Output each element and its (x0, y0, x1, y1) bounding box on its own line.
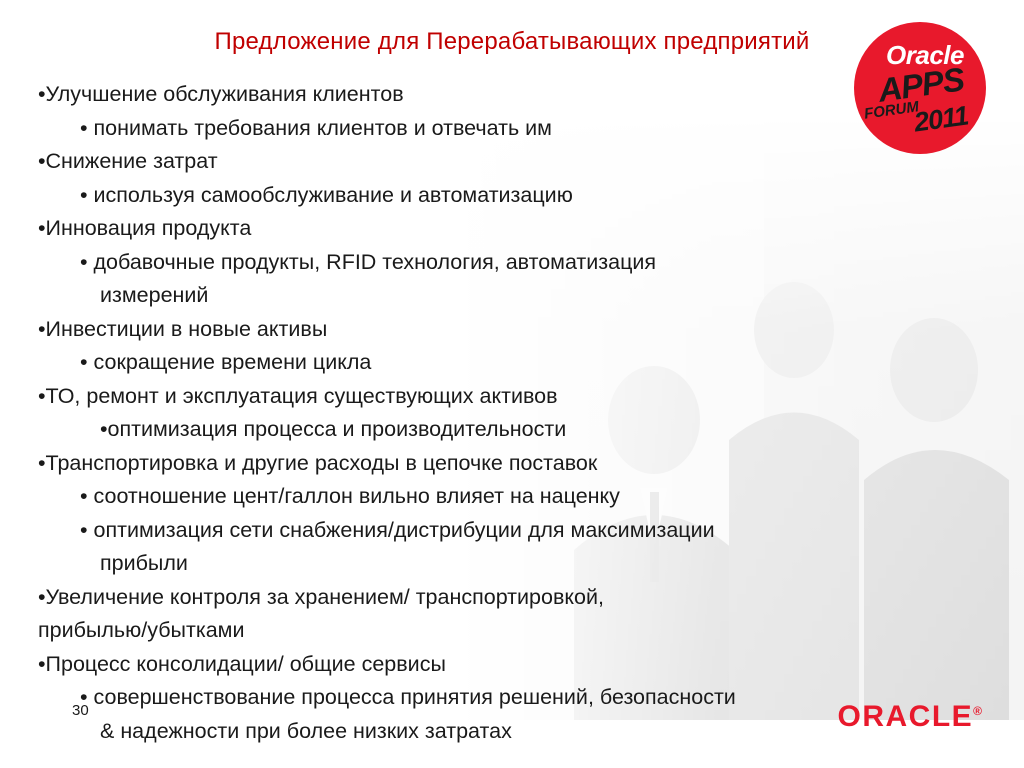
bullet-item: • добавочные продукты, RFID технология, … (38, 246, 998, 280)
bullet-item: •Инновация продукта (38, 212, 998, 246)
bullet-item: •Улучшение обслуживания клиентов (38, 78, 998, 112)
bullet-item: • понимать требования клиентов и отвечат… (38, 112, 998, 146)
bullet-item: • оптимизация сети снабжения/дистрибуции… (38, 514, 998, 548)
bullet-item: • соотношение цент/галлон вильно влияет … (38, 480, 998, 514)
oracle-wordmark: ORACLE (837, 700, 973, 733)
bullet-item-continuation: измерений (38, 279, 998, 313)
bullet-item: • используя самообслуживание и автоматиз… (38, 179, 998, 213)
bullet-item: •Инвестиции в новые активы (38, 313, 998, 347)
bullet-item-continuation: прибыли (38, 547, 998, 581)
bullet-item: •Процесс консолидации/ общие сервисы (38, 648, 998, 682)
page-number: 30 (72, 702, 89, 719)
slide: Предложение для Перерабатывающих предпри… (0, 0, 1024, 768)
bullet-item: •Снижение затрат (38, 145, 998, 179)
bullet-item: •оптимизация процесса и производительнос… (38, 413, 998, 447)
bullet-item-continuation: прибылью/убытками (38, 614, 998, 648)
registered-trademark-symbol: ® (973, 704, 982, 718)
bullet-item: •ТО, ремонт и эксплуатация существующих … (38, 380, 998, 414)
bullet-item: • сокращение времени цикла (38, 346, 998, 380)
bullet-list: •Улучшение обслуживания клиентов • поним… (38, 78, 998, 748)
bullet-item: •Транспортировка и другие расходы в цепо… (38, 447, 998, 481)
oracle-logo: ORACLE® (837, 700, 982, 734)
bullet-item: •Увеличение контроля за хранением/ транс… (38, 581, 998, 615)
